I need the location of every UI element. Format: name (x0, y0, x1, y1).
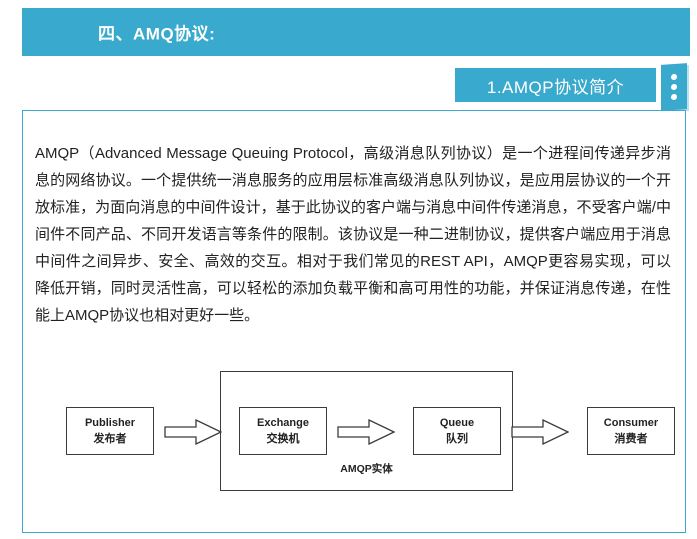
node-label-zh: 发布者 (94, 431, 127, 447)
node-label-en: Publisher (85, 415, 135, 431)
node-label-en: Exchange (257, 415, 309, 431)
node-label-zh: 消费者 (615, 431, 648, 447)
dot-3 (671, 94, 677, 100)
node-label-en: Consumer (604, 415, 658, 431)
amqp-flow-diagram: AMQP实体 Publisher 发布者 Exchange 交换机 Queue … (23, 361, 687, 531)
node-label-zh: 队列 (446, 431, 468, 447)
dot-1 (671, 74, 677, 80)
arrow-right-icon (337, 419, 395, 445)
diagram-node-queue: Queue 队列 (413, 407, 501, 455)
diagram-node-publisher: Publisher 发布者 (66, 407, 154, 455)
header-bar: 四、AMQ协议: (22, 8, 690, 56)
intro-paragraph: AMQP（Advanced Message Queuing Protocol，高… (35, 140, 671, 329)
content-panel: AMQP（Advanced Message Queuing Protocol，高… (22, 110, 686, 533)
section-badge[interactable]: 1.AMQP协议简介 (455, 68, 656, 102)
arrow-right-icon (511, 419, 569, 445)
page-title: 四、AMQ协议: (98, 20, 215, 45)
arrow-right-icon (164, 419, 222, 445)
diagram-node-exchange: Exchange 交换机 (239, 407, 327, 455)
amqp-entity-label: AMQP实体 (221, 461, 512, 476)
node-label-en: Queue (440, 415, 474, 431)
section-badge-row: 1.AMQP协议简介 (0, 64, 697, 108)
three-dots-icon (661, 63, 687, 111)
diagram-node-consumer: Consumer 消费者 (587, 407, 675, 455)
node-label-zh: 交换机 (267, 431, 300, 447)
dot-2 (671, 84, 677, 90)
